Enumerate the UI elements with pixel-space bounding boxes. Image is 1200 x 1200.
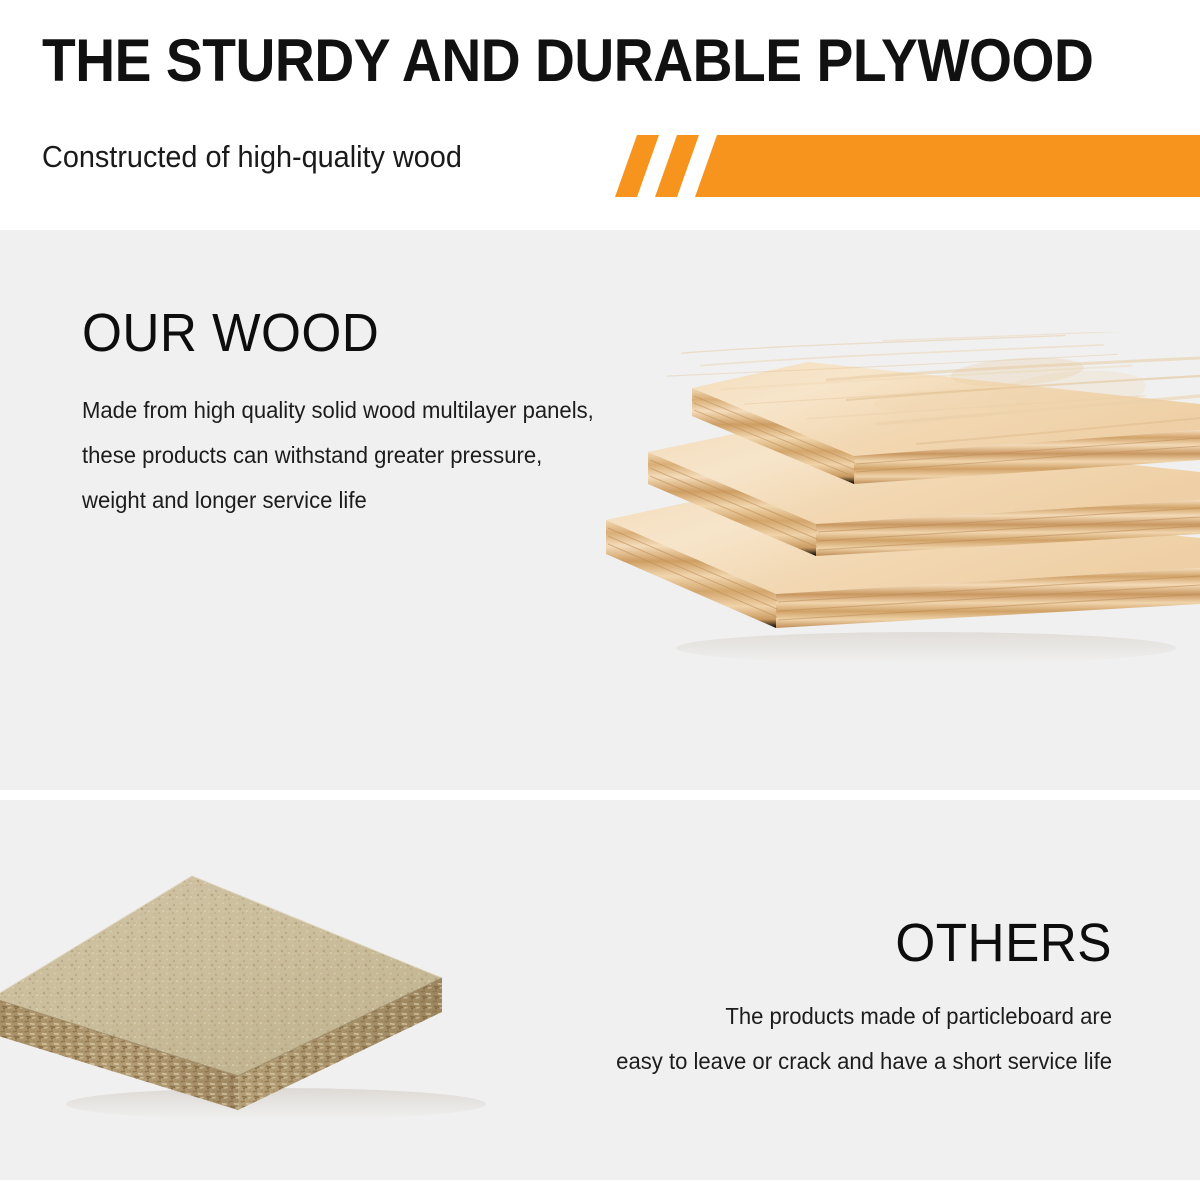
our-wood-text-block: OUR WOOD Made from high quality solid wo… <box>82 305 702 523</box>
page-title: THE STURDY AND DURABLE PLYWOOD <box>42 28 1093 94</box>
others-text-block: OTHERS The products made of particleboar… <box>472 915 1112 1084</box>
our-wood-heading: OUR WOOD <box>82 305 671 362</box>
others-line-1: The products made of particleboard are <box>498 994 1112 1039</box>
others-heading: OTHERS <box>504 915 1112 972</box>
our-wood-line-2: these products can withstand greater pre… <box>82 433 677 478</box>
others-line-2: easy to leave or crack and have a short … <box>498 1039 1112 1084</box>
particleboard-panel <box>0 860 488 1120</box>
page-subtitle: Constructed of high-quality wood <box>42 139 462 175</box>
particleboard-image <box>0 860 488 1120</box>
chevron-stripes-banner-icon <box>615 135 1200 197</box>
our-wood-line-1: Made from high quality solid wood multil… <box>82 388 677 433</box>
our-wood-line-3: weight and longer service life <box>82 478 677 523</box>
header-banner: THE STURDY AND DURABLE PLYWOOD Construct… <box>0 0 1200 210</box>
